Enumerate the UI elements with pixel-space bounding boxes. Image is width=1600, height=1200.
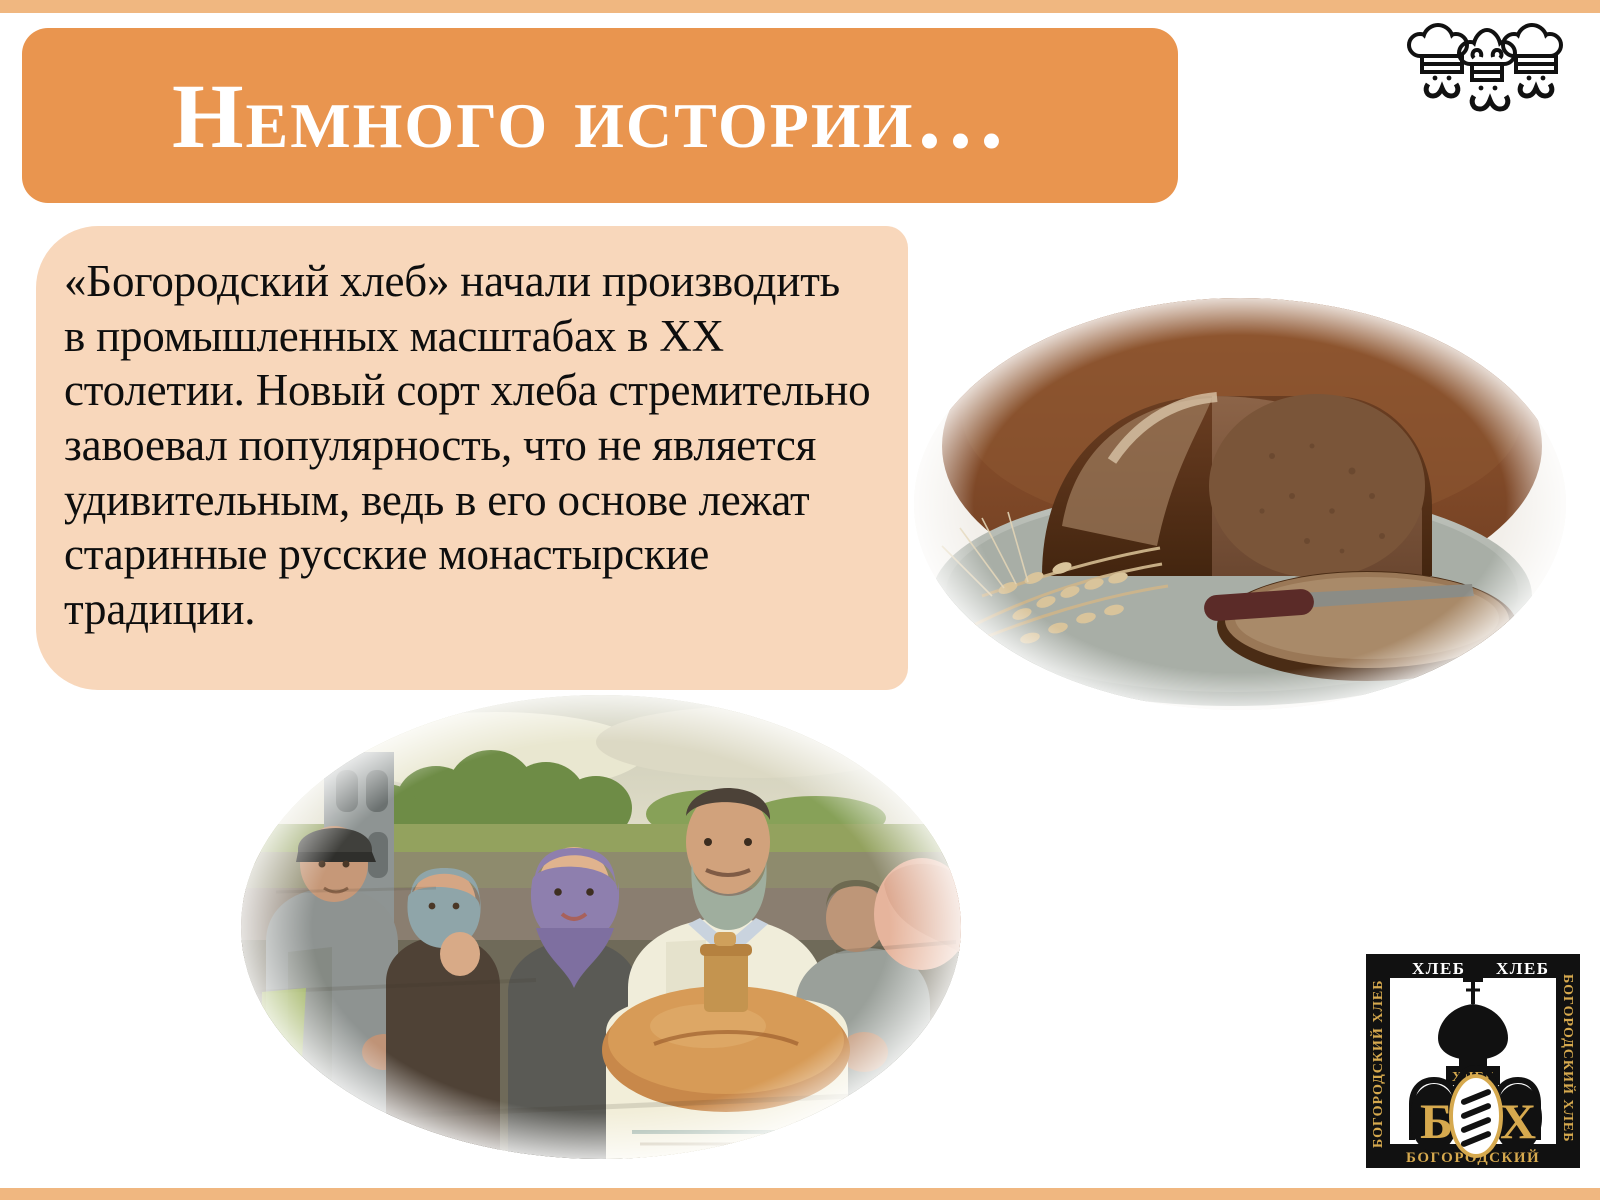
logo-text-left: БОГОРОДСКИЙ ХЛЕБ <box>1369 980 1386 1148</box>
logo-text-hleb-top-right: ХЛЕБ <box>1496 959 1550 978</box>
body-text: «Богородский хлеб» начали производить в … <box>64 254 872 637</box>
slide: Немного истории… <box>0 0 1600 1200</box>
body-text-card: «Богородский хлеб» начали производить в … <box>36 226 908 690</box>
top-accent-strip <box>0 0 1600 13</box>
logo-monogram-h: Х <box>1500 1093 1536 1149</box>
peasants-painting <box>236 692 966 1162</box>
bread-photo <box>912 296 1568 712</box>
logo-text-hleb-top-left: ХЛЕБ <box>1412 959 1466 978</box>
logo-monogram-b: Б <box>1420 1093 1453 1149</box>
chef-hats-icon <box>1402 22 1572 122</box>
logo-text-right: БОГОРОДСКИЙ ХЛЕБ <box>1560 974 1577 1142</box>
bottom-accent-strip <box>0 1188 1600 1200</box>
title-banner: Немного истории… <box>22 28 1178 203</box>
bogorodsky-hleb-logo: ХЛЕБ ХЛЕБ БОГОРОДСКИЙ ХЛЕБ БОГОРОДСКИЙ Х… <box>1360 948 1586 1174</box>
page-title: Немного истории… <box>172 70 1008 162</box>
